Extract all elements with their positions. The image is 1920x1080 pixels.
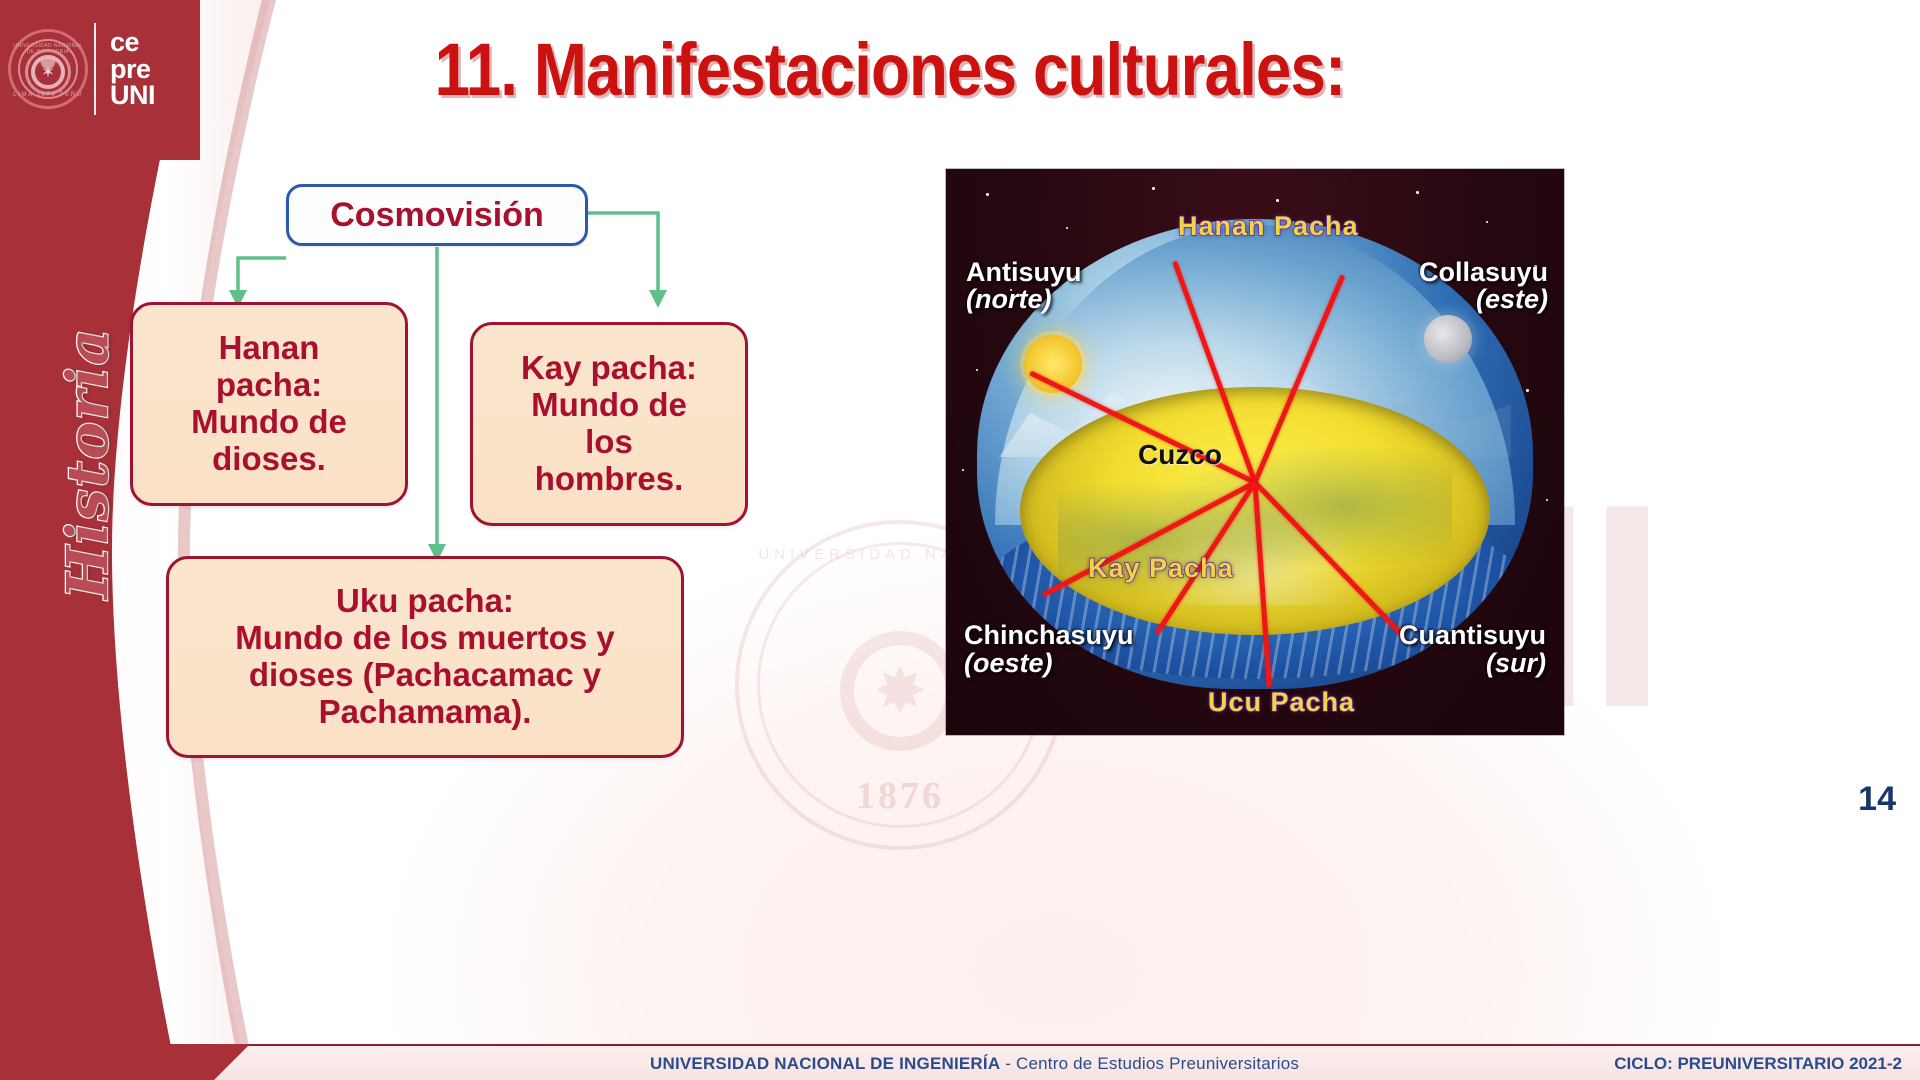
label-contisuyu: Cuantisuyu (sur) (1399, 595, 1546, 705)
label-ucu-pacha: Ucu Pacha (1208, 689, 1355, 717)
label-contisuyu-sub: (sur) (1399, 650, 1546, 678)
label-kay-pacha: Kay Pacha (1088, 555, 1234, 583)
label-collasuyu-name: Collasuyu (1419, 257, 1548, 287)
label-collasuyu-sub: (este) (1419, 286, 1548, 314)
footer-institution-sub: - Centro de Estudios Preuniversitarios (1000, 1054, 1299, 1073)
brand-logo: UNIVERSIDAD NACIONAL DE INGENIERIA LIMA … (8, 6, 198, 132)
diagram-node-label: Hanan pacha: Mundo de dioses. (181, 326, 357, 482)
label-antisuyu-sub: (norte) (966, 286, 1082, 314)
label-chinchasuyu: Chinchasuyu (oeste) (964, 595, 1134, 705)
logo-divider (94, 23, 96, 115)
diagram-node-kay-pacha[interactable]: Kay pacha: Mundo de los hombres. (470, 322, 748, 526)
logo-line-ce: ce (110, 29, 155, 55)
label-collasuyu: Collasuyu (este) (1419, 231, 1548, 341)
label-antisuyu-name: Antisuyu (966, 257, 1082, 287)
footer-institution-name: UNIVERSIDAD NACIONAL DE INGENIERÍA (650, 1054, 1000, 1073)
diagram-node-hanan-pacha[interactable]: Hanan pacha: Mundo de dioses. (130, 302, 408, 506)
label-contisuyu-name: Cuantisuyu (1399, 620, 1546, 650)
footer-red-wedge (0, 1044, 640, 1080)
page-title: 11. Manifestaciones culturales: (383, 32, 1398, 109)
logo-line-uni: UNI (110, 82, 155, 108)
footer-institution: UNIVERSIDAD NACIONAL DE INGENIERÍA - Cen… (650, 1054, 1299, 1074)
label-chinchasuyu-name: Chinchasuyu (964, 620, 1134, 650)
page-number: 14 (1858, 780, 1896, 819)
seal-gear-icon (31, 55, 65, 89)
footer-cycle: CICLO: PREUNIVERSITARIO 2021-2 (1614, 1054, 1902, 1074)
cepre-uni-wordmark: ce pre UNI (110, 29, 155, 108)
watermark-year: 1876 (739, 774, 1061, 818)
diagram-node-cosmovision[interactable]: Cosmovisión (286, 184, 588, 246)
gear-icon (840, 631, 960, 751)
uni-seal-icon: UNIVERSIDAD NACIONAL DE INGENIERIA LIMA … (8, 29, 88, 109)
label-chinchasuyu-sub: (oeste) (964, 650, 1134, 678)
diagram-node-label: Kay pacha: Mundo de los hombres. (511, 346, 707, 502)
diagram-node-uku-pacha[interactable]: Uku pacha: Mundo de los muertos y dioses… (166, 556, 684, 758)
slide-footer: UNIVERSIDAD NACIONAL DE INGENIERÍA - Cen… (0, 1044, 1920, 1080)
label-antisuyu: Antisuyu (norte) (966, 231, 1082, 341)
sidebar-subject-label: Historia (55, 313, 121, 613)
diagram-node-label: Cosmovisión (330, 196, 543, 235)
seal-bottom-text: LIMA 1876 PERU (11, 92, 85, 98)
diagram-node-label: Uku pacha: Mundo de los muertos y dioses… (225, 579, 625, 735)
label-cuzco: Cuzco (1138, 441, 1222, 470)
logo-line-pre: pre (110, 56, 155, 82)
slide-canvas: UNI UNIVERSIDAD NACIONAL 1876 UNIVERSIDA… (0, 0, 1920, 1080)
label-hanan-pacha: Hanan Pacha (1178, 213, 1359, 241)
andean-cosmology-image: Antisuyu (norte) Collasuyu (este) Chinch… (946, 169, 1564, 735)
